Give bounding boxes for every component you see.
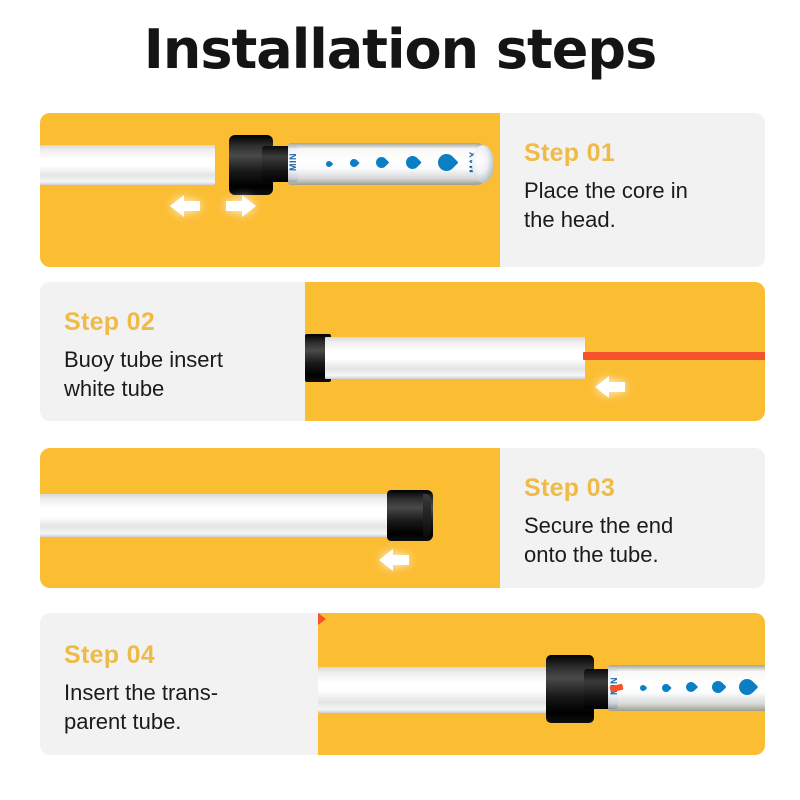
step-4-text-panel: Step 04 Insert the trans- parent tube.: [40, 613, 318, 755]
step-3-text-panel: Step 03 Secure the end onto the tube.: [500, 448, 765, 588]
droplet-5: [736, 676, 759, 699]
page-title: Installation steps: [0, 18, 800, 81]
end-cap-rib: [423, 494, 431, 537]
droplet-1: [325, 160, 333, 168]
step-3-description: Secure the end onto the tube.: [524, 511, 759, 569]
step-2-illustration: [305, 282, 765, 421]
step-2-description: Buoy tube insert white tube: [64, 345, 299, 403]
step-4-description: Insert the trans- parent tube.: [64, 678, 299, 736]
arrow-right-icon: [224, 191, 258, 221]
step-row-3: Step 03 Secure the end onto the tube.: [40, 448, 765, 588]
droplet-5: [434, 150, 458, 174]
scale-min-label: MIN: [288, 153, 298, 171]
white-tube: [325, 337, 585, 379]
red-indicator-arrowhead: [318, 613, 326, 625]
step-2-label: Step 02: [64, 308, 155, 337]
step-3-illustration: [40, 448, 500, 588]
droplet-2: [348, 157, 359, 168]
step-1-description: Place the core in the head.: [524, 176, 759, 234]
transparent-core-tube: MIN MAX: [608, 665, 765, 711]
step-1-label: Step 01: [524, 139, 615, 168]
droplet-3: [374, 155, 390, 171]
step-3-label: Step 03: [524, 474, 615, 503]
step-row-1: MIN MAX Step 01 Place the core in the he…: [40, 113, 765, 267]
step-row-2: Step 02 Buoy tube insert white tube: [40, 282, 765, 421]
droplet-1: [639, 684, 647, 692]
droplet-3: [684, 680, 698, 694]
step-4-illustration: MIN MAX: [318, 613, 765, 755]
arrow-left-icon: [377, 545, 411, 575]
white-tube: [40, 494, 400, 537]
white-tube: [318, 667, 568, 713]
droplet-4: [403, 153, 421, 171]
step-4-label: Step 04: [64, 641, 155, 670]
droplet-4: [710, 679, 727, 696]
step-2-text-panel: Step 02 Buoy tube insert white tube: [40, 282, 305, 421]
glass-end-cap: [472, 145, 494, 183]
step-1-illustration: MIN MAX: [40, 113, 500, 267]
transparent-core-tube: MIN MAX: [288, 143, 488, 185]
white-tube: [40, 145, 215, 185]
droplet-2: [660, 682, 671, 693]
step-row-4: Step 04 Insert the trans- parent tube. M…: [40, 613, 765, 755]
step-1-text-panel: Step 01 Place the core in the head.: [500, 113, 765, 267]
arrow-left-icon: [593, 372, 627, 402]
red-guide-line: [583, 352, 765, 360]
arrow-left-icon: [168, 191, 202, 221]
